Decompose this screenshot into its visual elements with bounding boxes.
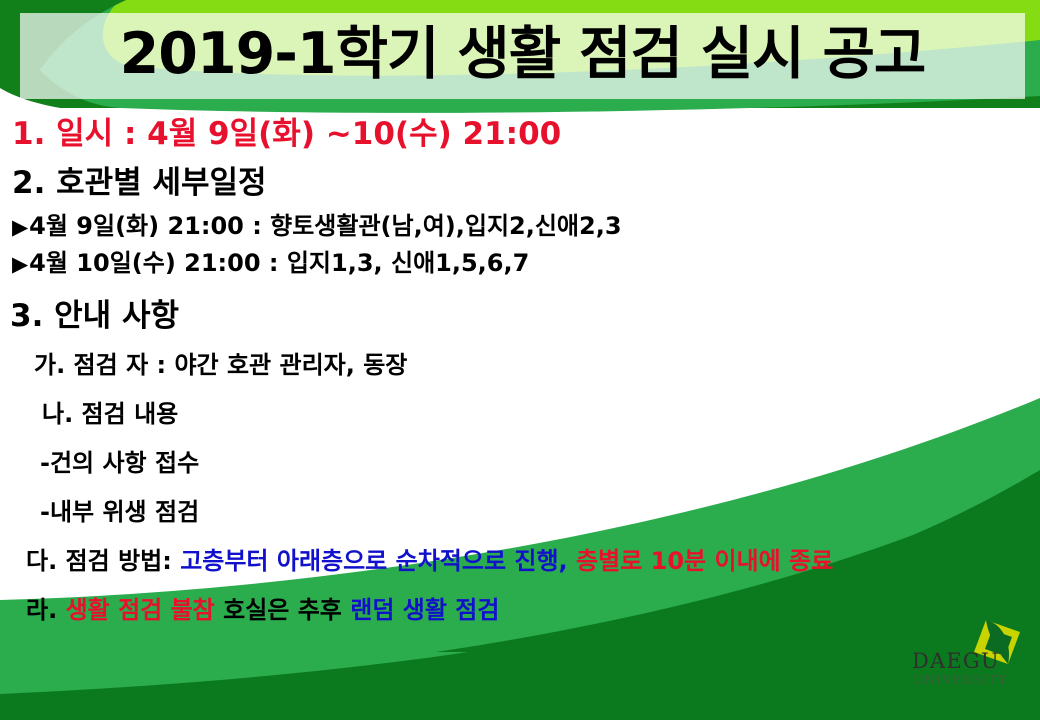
logo-subname: UNIVERSITY <box>913 673 1008 687</box>
note-c-blue-text: 고층부터 아래층으로 순차적으로 진행 <box>180 547 558 575</box>
note-c-comma: , <box>559 547 576 575</box>
note-c-red-text: 층별로 10분 이내에 종료 <box>576 547 833 575</box>
logo-name: DAEGU <box>912 649 1000 673</box>
note-d-absence: 라. 생활 점검 불참 호실은 추후 랜덤 생활 점검 <box>0 590 1040 625</box>
schedule-item-1: ▶4월 10일(수) 21:00 : 입지1,3, 신애1,5,6,7 <box>0 243 1040 278</box>
note-d-blue-text: 랜덤 생활 점검 <box>350 596 499 624</box>
triangle-bullet-icon: ▶ <box>12 215 28 239</box>
note-d-label: 라. <box>26 596 66 624</box>
page-title: 2019-1학기 생활 점검 실시 공고 <box>20 8 1025 100</box>
note-a-inspector: 가. 점검 자 : 야간 호관 관리자, 동장 <box>0 345 1040 380</box>
content-body: 1. 일시 : 4월 9일(화) ~10(수) 21:00 2. 호관별 세부일… <box>0 108 1040 639</box>
note-c-method: 다. 점검 방법: 고층부터 아래층으로 순차적으로 진행, 층별로 10분 이… <box>0 541 1040 576</box>
slide-canvas: 2019-1학기 생활 점검 실시 공고 1. 일시 : 4월 9일(화) ~1… <box>0 0 1040 720</box>
note-c-label: 다. 점검 방법: <box>26 547 180 575</box>
schedule-item-1-text: 4월 10일(수) 21:00 : 입지1,3, 신애1,5,6,7 <box>29 249 529 277</box>
section-3-heading: 3. 안내 사항 <box>0 290 1040 335</box>
schedule-item-0: ▶4월 9일(화) 21:00 : 향토생활관(남,여),입지2,신애2,3 <box>0 206 1040 241</box>
note-d-red-text: 생활 점검 불참 <box>66 596 215 624</box>
triangle-bullet-icon: ▶ <box>12 252 28 276</box>
daegu-university-logo: DAEGU UNIVERSITY <box>908 616 1028 694</box>
note-b-sub-2: -내부 위생 점검 <box>0 492 1040 527</box>
schedule-item-0-text: 4월 9일(화) 21:00 : 향토생활관(남,여),입지2,신애2,3 <box>29 212 621 240</box>
section-1-datetime: 1. 일시 : 4월 9일(화) ~10(수) 21:00 <box>0 108 1040 153</box>
note-d-mid-text: 호실은 추후 <box>215 596 350 624</box>
section-2-heading: 2. 호관별 세부일정 <box>0 157 1040 202</box>
note-b-content: 나. 점검 내용 <box>0 394 1040 429</box>
logo-artwork: DAEGU UNIVERSITY <box>908 616 1028 694</box>
note-b-sub-1: -건의 사항 접수 <box>0 443 1040 478</box>
